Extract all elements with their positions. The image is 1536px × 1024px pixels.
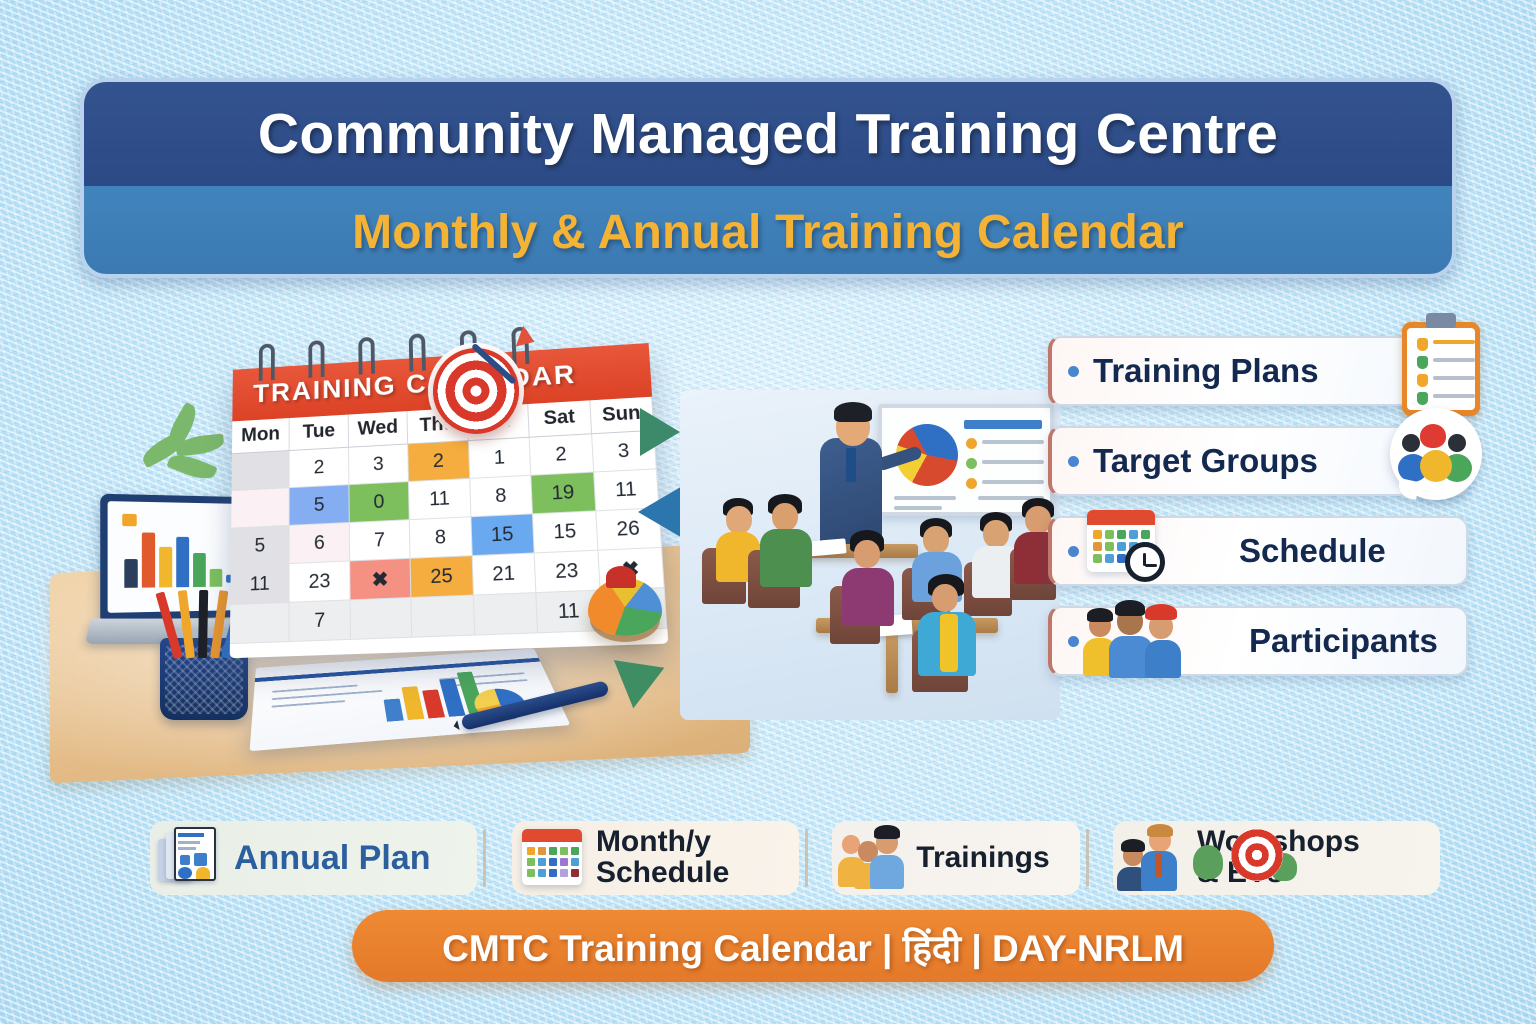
card-target-groups[interactable]: Target Groups: [1048, 426, 1468, 496]
document-stack-icon: [158, 827, 224, 889]
calendar-day-cell[interactable]: 3: [349, 444, 409, 485]
pie-chart-3d-icon: [588, 578, 662, 636]
strip-divider: [805, 829, 808, 887]
clipboard-checklist-icon: [1392, 340, 1466, 402]
calendar-weekday-header: Tue: [290, 415, 349, 451]
pill-label: Annual Plan: [234, 841, 430, 876]
calendar-day-cell[interactable]: 2: [290, 448, 349, 488]
calendar-day-cell[interactable]: 5: [290, 485, 350, 526]
people-speech-bubble-icon: [1392, 430, 1466, 492]
bullet-dot: [1068, 456, 1079, 467]
calendar-day-cell[interactable]: 15: [471, 514, 535, 556]
card-label: Schedule: [1239, 532, 1386, 570]
bullet-dot: [1068, 366, 1079, 377]
classroom-illustration: [680, 390, 1060, 720]
workshop-people-icon: [1121, 827, 1187, 889]
header-band-top: Community Managed Training Centre: [84, 82, 1452, 186]
calendar-day-cell[interactable]: 2: [408, 441, 470, 482]
green-arrow-right-icon: [640, 408, 680, 456]
calendar-day-cell[interactable]: 7: [290, 600, 351, 642]
card-training-plans[interactable]: Training Plans: [1048, 336, 1468, 406]
trainer-hair: [834, 402, 872, 422]
illustration-scene: TRAINING CALENDAR MonTueWedThuFriSatSun2…: [40, 300, 1050, 800]
pill-trainings[interactable]: Trainings: [832, 821, 1080, 895]
calendar-weekday-header: Wed: [349, 411, 409, 448]
calendar-weekday-header: Mon: [232, 418, 290, 454]
card-label: Participants: [1249, 622, 1438, 660]
pill-label: Trainings: [916, 843, 1049, 874]
training-table-leg: [886, 633, 898, 693]
calendar-day-cell[interactable]: 11: [409, 479, 471, 520]
group-of-people-icon: [1079, 610, 1189, 672]
calendar-day-cell[interactable]: 5: [231, 526, 290, 567]
pill-workshops[interactable]: Workshops & EVs: [1113, 821, 1440, 895]
calendar-day-cell[interactable]: 1: [469, 438, 532, 479]
calendar-weekday-header: Sat: [528, 400, 591, 437]
calendar-clock-icon: [1079, 520, 1183, 582]
monthly-calendar-icon: [520, 827, 586, 889]
trainer-tie: [846, 448, 856, 482]
page-title: Community Managed Training Centre: [258, 101, 1278, 167]
calendar-day-cell[interactable]: 7: [350, 520, 411, 561]
calendar-day-cell[interactable]: 15: [533, 511, 598, 553]
blue-arrow-left-icon: [638, 485, 684, 539]
bottom-feature-strip: Annual Plan Month: [150, 812, 1440, 904]
header-band-bottom: Monthly & Annual Training Calendar: [84, 186, 1452, 278]
calendar-day-cell[interactable]: [350, 598, 412, 640]
calendar-day-cell[interactable]: 2: [530, 434, 594, 475]
two-people-icon: [840, 827, 906, 889]
calendar-day-cell[interactable]: 19: [531, 473, 595, 515]
footer-banner: CMTC Training Calendar | हिंदी | DAY-NRL…: [352, 910, 1274, 982]
calendar-day-cell[interactable]: 0: [349, 482, 410, 523]
feature-card-list: Training Plans Target Groups: [1048, 336, 1468, 696]
pill-annual-plan[interactable]: Annual Plan: [150, 821, 477, 895]
calendar-day-cell[interactable]: [231, 488, 290, 528]
calendar-day-cell[interactable]: [230, 603, 290, 644]
card-label: Target Groups: [1093, 442, 1318, 480]
calendar-day-cell[interactable]: 8: [410, 517, 472, 559]
potted-plant-icon: [140, 410, 230, 500]
footer-label: CMTC Training Calendar | हिंदी | DAY-NRL…: [442, 921, 1184, 972]
calendar-day-cell[interactable]: 25: [411, 556, 474, 598]
calendar-day-cell[interactable]: 21: [472, 553, 536, 595]
target-icon: [433, 348, 519, 434]
card-schedule[interactable]: Schedule: [1048, 516, 1468, 586]
bullet-dot: [1068, 636, 1079, 647]
calendar-day-cell[interactable]: [412, 596, 475, 638]
header-banner: Community Managed Training Centre Monthl…: [80, 78, 1456, 278]
calendar-day-cell[interactable]: [232, 451, 290, 491]
target-icon: [1231, 829, 1283, 881]
calendar-day-cell[interactable]: 8: [470, 476, 533, 518]
page-subtitle: Monthly & Annual Training Calendar: [352, 205, 1184, 260]
calendar-day-cell[interactable]: 6: [290, 523, 350, 564]
card-label: Training Plans: [1093, 352, 1319, 390]
calendar-day-cell[interactable]: 11: [230, 564, 290, 605]
pill-label: Month/y Schedule: [596, 827, 729, 888]
strip-divider: [1086, 829, 1089, 887]
card-participants[interactable]: Participants: [1048, 606, 1468, 676]
bullet-dot: [1068, 546, 1079, 557]
strip-divider: [483, 829, 486, 887]
calendar-day-cell[interactable]: 23: [535, 551, 600, 593]
calendar-day-cell[interactable]: [474, 593, 539, 635]
pill-monthly-schedule[interactable]: Month/y Schedule: [512, 821, 799, 895]
calendar-day-cell[interactable]: 23: [290, 561, 350, 602]
calendar-day-cell[interactable]: ✖: [350, 559, 412, 601]
